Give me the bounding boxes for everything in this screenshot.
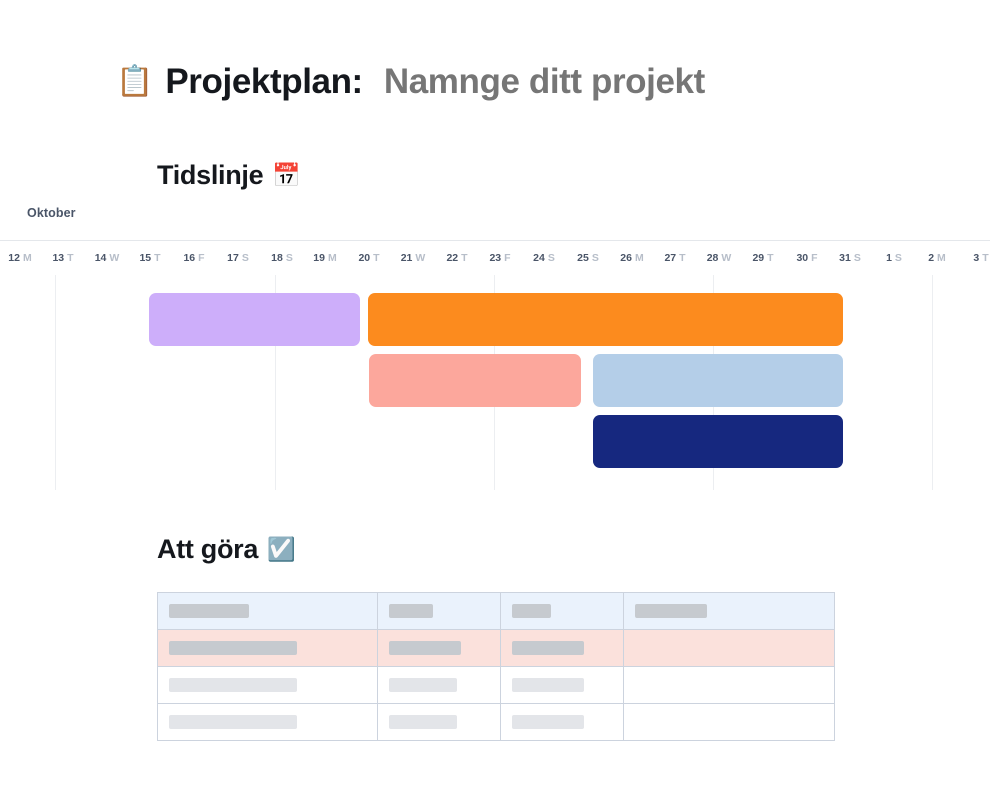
day-tick: 22T — [446, 252, 467, 264]
table-row[interactable] — [158, 630, 835, 667]
day-number: 23 — [489, 252, 501, 264]
day-number: 19 — [313, 252, 325, 264]
day-letter: T — [461, 252, 467, 264]
task-bar-salmon[interactable] — [369, 354, 581, 407]
day-letter: T — [679, 252, 685, 264]
day-letter: W — [109, 252, 119, 264]
cell-placeholder — [512, 604, 551, 618]
day-letter: W — [721, 252, 731, 264]
day-number: 15 — [139, 252, 151, 264]
day-letter: M — [328, 252, 337, 264]
day-letter: T — [767, 252, 773, 264]
cell-placeholder — [635, 604, 707, 618]
table-cell[interactable] — [158, 704, 378, 741]
table-cell[interactable] — [624, 667, 835, 704]
day-number: 31 — [839, 252, 851, 264]
timeline-heading-label: Tidslinje — [157, 160, 263, 191]
table-cell[interactable] — [378, 704, 501, 741]
todo-heading-label: Att göra — [157, 534, 258, 565]
day-tick: 19M — [313, 252, 336, 264]
table-cell[interactable] — [158, 630, 378, 667]
cell-placeholder — [389, 604, 433, 618]
day-letter: S — [242, 252, 249, 264]
page-title-placeholder[interactable]: Namnge ditt projekt — [384, 62, 705, 102]
day-letter: T — [67, 252, 73, 264]
day-tick: 12M — [8, 252, 31, 264]
table-cell[interactable] — [501, 593, 624, 630]
table-cell[interactable] — [501, 667, 624, 704]
day-tick: 25S — [577, 252, 599, 264]
day-number: 28 — [707, 252, 719, 264]
gantt-bars[interactable] — [0, 275, 990, 490]
day-tick: 14W — [95, 252, 120, 264]
table-row[interactable] — [158, 593, 835, 630]
cell-placeholder — [169, 715, 297, 729]
day-number: 14 — [95, 252, 107, 264]
table-row[interactable] — [158, 704, 835, 741]
day-letter: S — [548, 252, 555, 264]
day-tick: 27T — [664, 252, 685, 264]
day-tick: 24S — [533, 252, 555, 264]
day-letter: W — [415, 252, 425, 264]
day-tick: 21W — [401, 252, 426, 264]
day-letter: S — [895, 252, 902, 264]
todo-table[interactable] — [157, 592, 835, 741]
day-tick: 28W — [707, 252, 732, 264]
day-tick: 18S — [271, 252, 293, 264]
day-letter: S — [592, 252, 599, 264]
day-number: 18 — [271, 252, 283, 264]
day-number: 24 — [533, 252, 545, 264]
day-number: 21 — [401, 252, 413, 264]
day-number: 12 — [8, 252, 20, 264]
day-number: 25 — [577, 252, 589, 264]
cell-placeholder — [169, 678, 297, 692]
checkbox-icon: ☑️ — [267, 538, 296, 561]
task-bar-orange[interactable] — [368, 293, 843, 346]
day-number: 3 — [973, 252, 979, 264]
table-row[interactable] — [158, 667, 835, 704]
table-cell[interactable] — [624, 593, 835, 630]
day-tick: 15T — [139, 252, 160, 264]
day-letter: T — [373, 252, 379, 264]
day-tick: 16F — [183, 252, 204, 264]
day-number: 30 — [796, 252, 808, 264]
table-cell[interactable] — [378, 630, 501, 667]
cell-placeholder — [389, 715, 457, 729]
day-letter: S — [286, 252, 293, 264]
page-title: 📋 Projektplan: Namnge ditt projekt — [116, 62, 705, 102]
page-title-main: Projektplan: — [165, 62, 362, 102]
day-letter: T — [982, 252, 988, 264]
day-tick: 20T — [358, 252, 379, 264]
task-bar-lightblue[interactable] — [593, 354, 843, 407]
table-cell[interactable] — [624, 630, 835, 667]
cell-placeholder — [169, 641, 297, 655]
timeline-section-heading: Tidslinje 📅 — [157, 160, 301, 191]
table-cell[interactable] — [501, 704, 624, 741]
timeline-day-axis: 12M13T14W15T16F17S18S19M20T21W22T23F24S2… — [0, 252, 990, 270]
day-letter: F — [811, 252, 817, 264]
table-cell[interactable] — [158, 593, 378, 630]
day-number: 27 — [664, 252, 676, 264]
day-number: 1 — [886, 252, 892, 264]
table-cell[interactable] — [378, 667, 501, 704]
day-tick: 1S — [886, 252, 902, 264]
table-cell[interactable] — [378, 593, 501, 630]
table-cell[interactable] — [158, 667, 378, 704]
day-tick: 31S — [839, 252, 861, 264]
day-number: 16 — [183, 252, 195, 264]
day-number: 2 — [928, 252, 934, 264]
day-number: 26 — [620, 252, 632, 264]
day-letter: F — [198, 252, 204, 264]
day-letter: M — [937, 252, 946, 264]
day-tick: 13T — [52, 252, 73, 264]
task-bar-navy[interactable] — [593, 415, 843, 468]
day-tick: 30F — [796, 252, 817, 264]
day-tick: 23F — [489, 252, 510, 264]
day-tick: 2M — [928, 252, 946, 264]
day-letter: F — [504, 252, 510, 264]
task-bar-purple[interactable] — [149, 293, 360, 346]
day-letter: M — [635, 252, 644, 264]
table-cell[interactable] — [501, 630, 624, 667]
day-number: 29 — [752, 252, 764, 264]
cell-placeholder — [512, 715, 584, 729]
day-number: 13 — [52, 252, 64, 264]
cell-placeholder — [512, 678, 584, 692]
day-number: 22 — [446, 252, 458, 264]
cell-placeholder — [169, 604, 249, 618]
cell-placeholder — [389, 641, 461, 655]
calendar-icon: 📅 — [272, 164, 301, 187]
day-tick: 26M — [620, 252, 643, 264]
day-tick: 29T — [752, 252, 773, 264]
day-tick: 17S — [227, 252, 249, 264]
day-letter: M — [23, 252, 32, 264]
day-number: 20 — [358, 252, 370, 264]
timeline-month-label: Oktober — [27, 206, 76, 220]
cell-placeholder — [389, 678, 457, 692]
day-number: 17 — [227, 252, 239, 264]
day-letter: S — [854, 252, 861, 264]
clipboard-icon: 📋 — [116, 67, 153, 97]
day-tick: 3T — [973, 252, 988, 264]
todo-section-heading: Att göra ☑️ — [157, 534, 296, 565]
table-cell[interactable] — [624, 704, 835, 741]
day-letter: T — [154, 252, 160, 264]
gantt-timeline[interactable]: Oktober 12M13T14W15T16F17S18S19M20T21W22… — [0, 200, 990, 495]
cell-placeholder — [512, 641, 584, 655]
timeline-divider — [0, 240, 990, 241]
